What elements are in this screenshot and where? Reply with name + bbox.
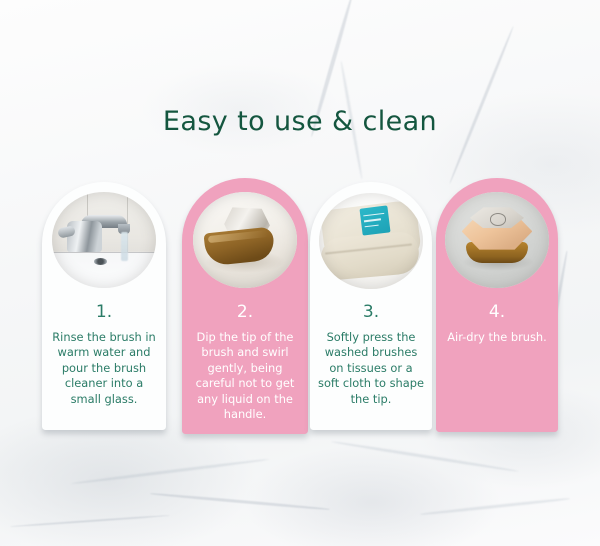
marble-vein xyxy=(420,497,569,515)
step-number-4: 4. xyxy=(436,302,558,322)
page-title: Easy to use & clean xyxy=(0,106,600,137)
step-number-3: 3. xyxy=(310,302,432,322)
step-card-4[interactable]: 4. Air-dry the brush. xyxy=(436,178,558,432)
step-card-1[interactable]: 1. Rinse the brush in warm water and pou… xyxy=(42,182,166,430)
folded-cloth-towel-photo xyxy=(319,193,423,289)
step-number-1: 1. xyxy=(42,302,166,322)
step-description-2: Dip the tip of the brush and swirl gentl… xyxy=(190,330,300,422)
step-card-2[interactable]: 2. Dip the tip of the brush and swirl ge… xyxy=(182,178,308,434)
marble-vein xyxy=(10,514,170,527)
marble-vein xyxy=(448,26,514,185)
marble-vein xyxy=(150,492,330,510)
step-description-4: Air-dry the brush. xyxy=(444,330,550,345)
standing-brush-photo xyxy=(445,192,549,288)
marble-vein xyxy=(71,458,270,485)
step-card-3[interactable]: 3. Softly press the washed brushes on ti… xyxy=(310,182,432,430)
step-description-3: Softly press the washed brushes on tissu… xyxy=(318,330,424,407)
step-description-1: Rinse the brush in warm water and pour t… xyxy=(50,330,158,407)
step-number-2: 2. xyxy=(182,302,308,322)
infographic-stage: Easy to use & clean 1. Rinse the brush i… xyxy=(0,0,600,546)
brush-tip-dipping-photo xyxy=(193,192,297,288)
faucet-running-water-photo xyxy=(52,192,156,288)
marble-vein xyxy=(331,440,519,473)
